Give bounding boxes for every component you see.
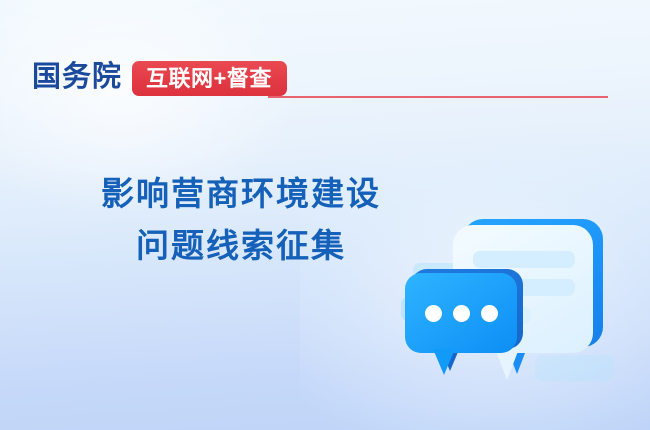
typing-dots-group (405, 273, 517, 353)
header-divider-line (268, 96, 608, 98)
typing-dot-1-icon (425, 305, 442, 322)
campaign-badge-label: 互联网+督查 (146, 68, 272, 90)
speech-bubbles-illustration (395, 205, 630, 400)
campaign-badge: 互联网+督查 (132, 61, 287, 96)
typing-dot-2-icon (453, 305, 470, 322)
page-title: 影响营商环境建设 问题线索征集 (52, 168, 430, 272)
poster-header: 国务院 互联网+督查 (0, 55, 650, 105)
page-title-line-2: 问题线索征集 (52, 220, 430, 272)
issuer-label: 国务院 (32, 55, 122, 99)
typing-dot-3-icon (481, 305, 498, 322)
ghost-bar-d-icon (535, 355, 613, 381)
message-line-1-icon (473, 251, 575, 268)
poster-banner: 国务院 互联网+督查 影响营商环境建设 问题线索征集 (0, 0, 650, 430)
page-title-line-1: 影响营商环境建设 (52, 168, 430, 220)
